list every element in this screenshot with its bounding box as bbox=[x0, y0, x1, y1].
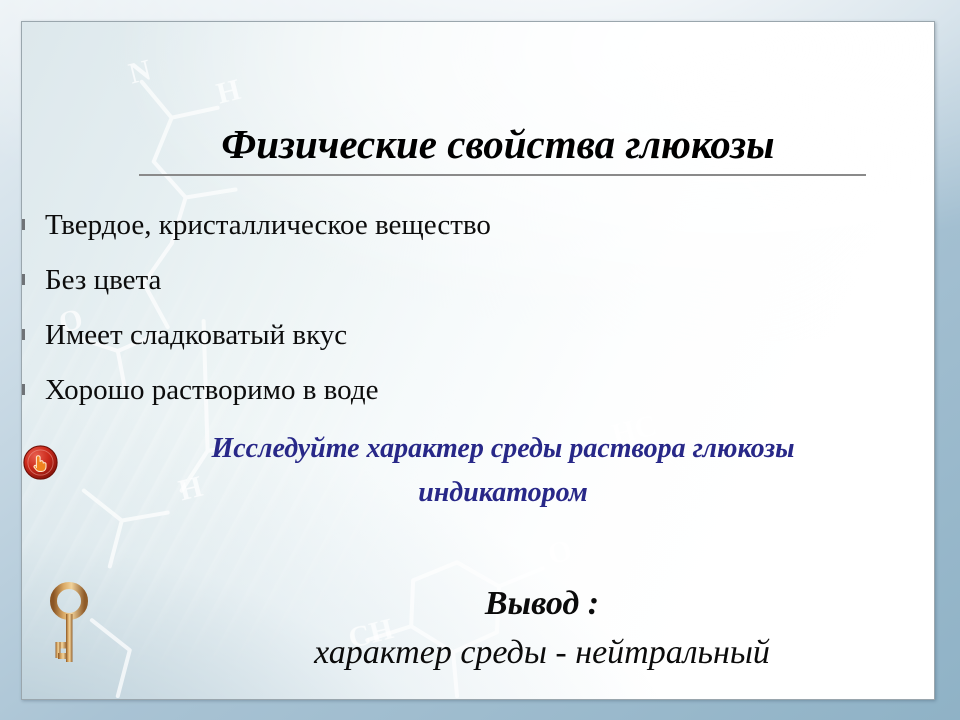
conclusion-text: характер среды - нейтральный bbox=[172, 628, 912, 678]
svg-text:H: H bbox=[213, 73, 244, 111]
conclusion-block: Вывод : характер среды - нейтральный bbox=[172, 580, 912, 678]
square-bullet-icon bbox=[21, 219, 25, 230]
list-item-label: Твердое, кристаллическое вещество bbox=[45, 208, 491, 242]
instruction-block: Исследуйте характер среды раствора глюко… bbox=[22, 427, 935, 515]
conclusion-label: Вывод : bbox=[172, 580, 912, 628]
instruction-text: Исследуйте характер среды раствора глюко… bbox=[118, 427, 888, 515]
instruction-line-2: индикатором bbox=[418, 477, 588, 508]
svg-text:N: N bbox=[698, 63, 727, 100]
instruction-line-1: Исследуйте характер среды раствора глюко… bbox=[211, 433, 794, 464]
square-bullet-icon bbox=[21, 384, 25, 395]
square-bullet-icon bbox=[21, 274, 25, 285]
list-item: Без цвета bbox=[21, 252, 714, 307]
svg-text:N: N bbox=[840, 253, 869, 290]
page-title: Физические свойства глюкозы bbox=[118, 119, 878, 169]
list-item: Хорошо растворимо в воде bbox=[21, 362, 714, 417]
properties-list: Твердое, кристаллическое вещество Без цв… bbox=[21, 197, 714, 417]
pointing-hand-icon bbox=[23, 445, 58, 480]
slide-canvas-frame: N H O H CH N H N HC N O Физические свойс… bbox=[21, 21, 935, 700]
list-item: Твердое, кристаллическое вещество bbox=[21, 197, 714, 252]
list-item-label: Хорошо растворимо в воде bbox=[45, 373, 378, 407]
list-item-label: Без цвета bbox=[45, 263, 161, 297]
list-item: Имеет сладковатый вкус bbox=[21, 307, 714, 362]
svg-text:O: O bbox=[545, 534, 576, 572]
title-underline-rule bbox=[139, 174, 866, 176]
square-bullet-icon bbox=[21, 329, 25, 340]
title-block: Физические свойства глюкозы bbox=[118, 119, 878, 176]
key-icon bbox=[46, 579, 92, 671]
presentation-slide: N H O H CH N H N HC N O Физические свойс… bbox=[0, 0, 960, 720]
list-item-label: Имеет сладковатый вкус bbox=[45, 318, 347, 352]
svg-text:N: N bbox=[125, 53, 154, 90]
